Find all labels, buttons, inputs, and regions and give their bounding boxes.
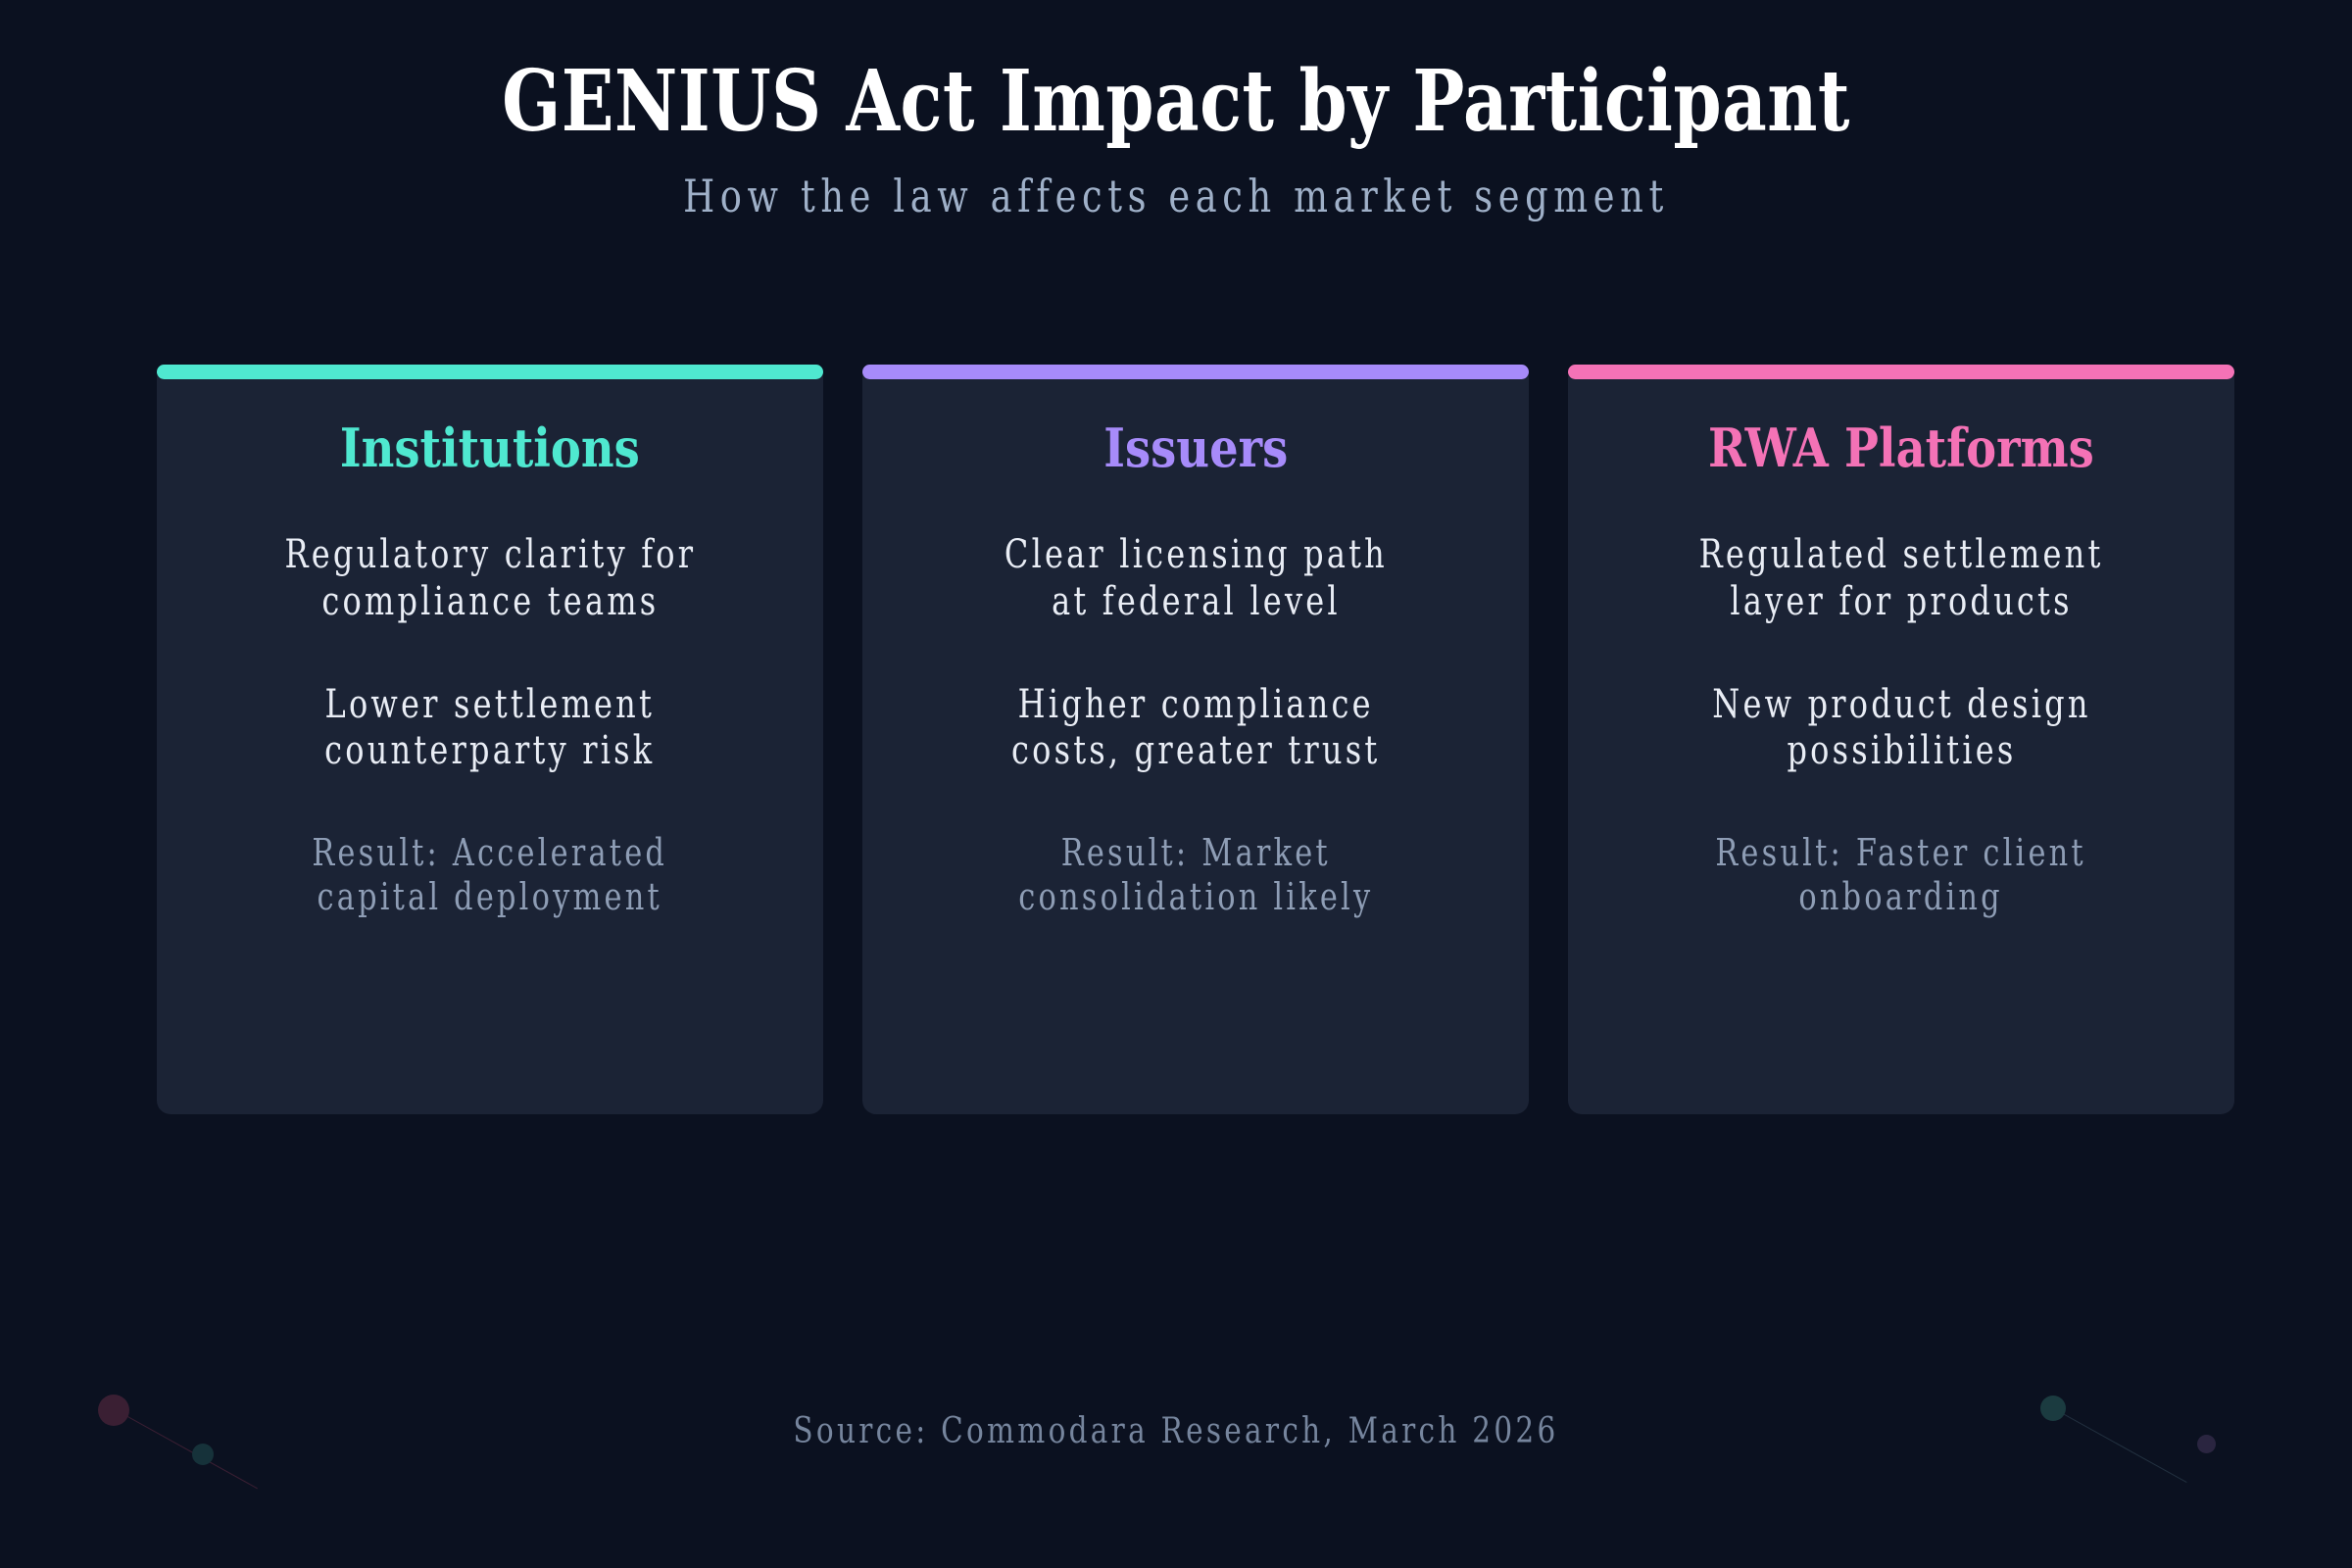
page-title: GENIUS Act Impact by Participant [212, 0, 2140, 148]
card-title-institutions: Institutions [340, 419, 640, 477]
slide-root: GENIUS Act Impact by Participant How the… [0, 0, 2352, 1568]
card-point-2: Higher compliance costs, greater trust [1011, 682, 1380, 774]
card-point-1: Regulatory clarity for compliance teams [284, 532, 696, 624]
card-title-issuers: Issuers [1103, 419, 1288, 477]
decoration-left-dot-pink [98, 1395, 129, 1426]
card-rwa-platforms[interactable]: RWA Platforms Regulated settlement layer… [1568, 365, 2234, 1114]
accent-bar-issuers [862, 365, 1529, 379]
accent-bar-institutions [157, 365, 823, 379]
card-result: Result: Accelerated capital deployment [313, 831, 668, 919]
decoration-right-dot-purple [2197, 1435, 2216, 1453]
card-point-1: Regulated settlement layer for products [1699, 532, 2104, 624]
card-title-rwa-platforms: RWA Platforms [1708, 419, 2094, 477]
page-subtitle: How the law affects each market segment [235, 148, 2117, 222]
card-institutions[interactable]: Institutions Regulatory clarity for comp… [157, 365, 823, 1114]
slide-header: GENIUS Act Impact by Participant How the… [0, 0, 2352, 222]
participant-cards: Institutions Regulatory clarity for comp… [157, 365, 2234, 1114]
card-point-2: Lower settlement counterparty risk [324, 682, 655, 774]
card-issuers[interactable]: Issuers Clear licensing path at federal … [862, 365, 1529, 1114]
accent-bar-rwa-platforms [1568, 365, 2234, 379]
decoration-left-dot-teal [192, 1444, 214, 1465]
card-point-2: New product design possibilities [1712, 682, 2090, 774]
card-point-1: Clear licensing path at federal level [1004, 532, 1387, 624]
card-result: Result: Market consolidation likely [1018, 831, 1373, 919]
card-result: Result: Faster client onboarding [1716, 831, 2087, 919]
source-note: Source: Commodara Research, March 2026 [212, 1411, 2140, 1451]
